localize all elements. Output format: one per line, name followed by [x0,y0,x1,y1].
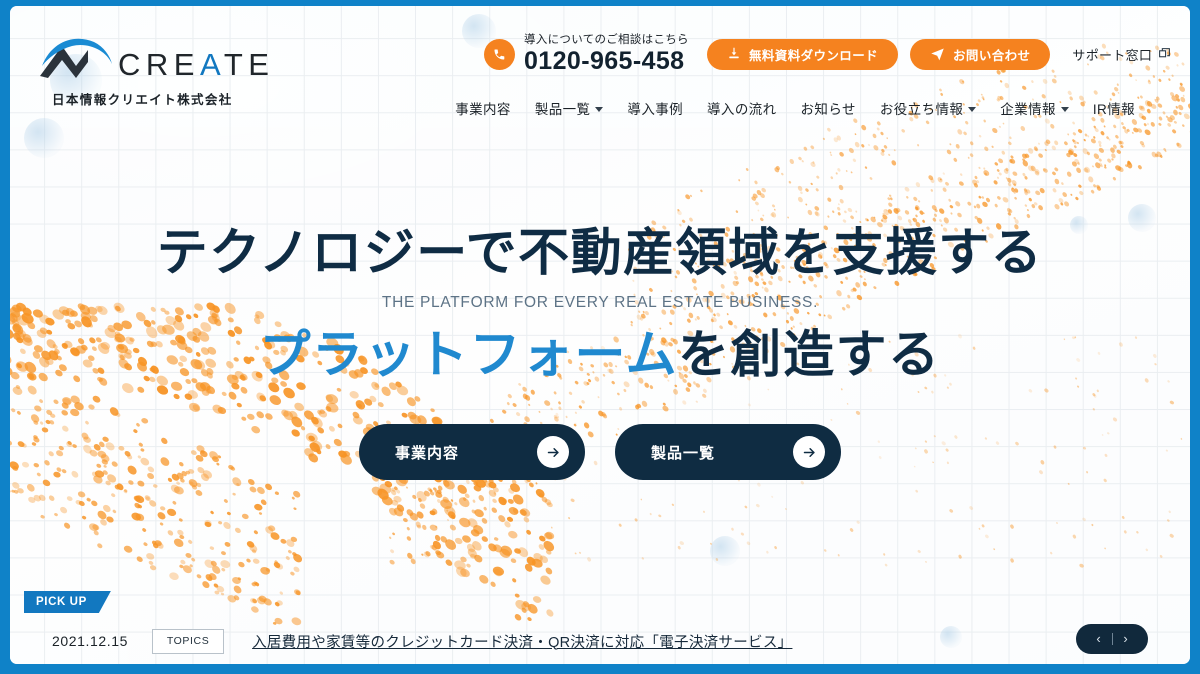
download-materials-button[interactable]: 無料資料ダウンロード [707,39,898,70]
contact-label: お問い合わせ [953,45,1030,64]
chevron-left-icon[interactable]: ‹ [1086,624,1112,654]
hero-cta-label: 事業内容 [395,442,459,463]
pickup-headline-link[interactable]: 入居費用や家賃等のクレジットカード決済・QR決済に対応「電子決済サービス」 [252,631,792,652]
download-icon [727,46,741,63]
nav-label: 事業内容 [455,98,511,118]
nav-item-process[interactable]: 導入の流れ [707,98,777,118]
hero-subtitle: THE PLATFORM FOR EVERY REAL ESTATE BUSIN… [10,294,1190,312]
hero-cta-business[interactable]: 事業内容 [359,424,585,480]
main-navigation: 事業内容 製品一覧 導入事例 導入の流れ お知らせ お役立ち情報 [455,98,1135,118]
telephone-block[interactable]: 導入についてのご相談はこちら 0120-965-458 [484,34,689,75]
pickup-date: 2021.12.15 [52,633,128,649]
nav-item-resources[interactable]: お役立ち情報 [880,98,976,118]
nav-label: 導入の流れ [707,98,777,118]
nav-item-products[interactable]: 製品一覧 [535,98,604,118]
nav-label: お役立ち情報 [880,98,963,118]
company-name: 日本情報クリエイト株式会社 [52,89,266,108]
hero-headline-rest: を創造する [678,326,941,383]
phone-icon [484,39,515,70]
logo[interactable]: CREATE 日本情報クリエイト株式会社 [36,32,266,108]
paper-plane-icon [930,46,945,64]
external-link-icon [1158,47,1171,63]
hero-headline-accent: プラットフォーム [260,326,678,383]
nav-item-news[interactable]: お知らせ [801,98,856,118]
nav-label: 企業情報 [1000,98,1056,118]
support-desk-label: サポート窓口 [1072,45,1152,64]
nav-item-company[interactable]: 企業情報 [1000,98,1069,118]
create-swoosh-logo-icon [36,36,114,82]
hero-headline-line2: プラットフォームを創造する [10,326,1190,384]
arrow-right-icon [793,436,825,468]
contact-button[interactable]: お問い合わせ [910,39,1050,70]
nav-label: 導入事例 [627,98,683,118]
hero-cta-products[interactable]: 製品一覧 [615,424,841,480]
pickup-ribbon: PICK UP [24,591,111,613]
nav-label: 製品一覧 [535,98,591,118]
pickup-category-badge: TOPICS [152,629,224,654]
chevron-down-icon [968,107,976,112]
chevron-down-icon [595,107,603,112]
pickup-carousel-nav: ‹ › [1076,624,1148,654]
nav-item-case-studies[interactable]: 導入事例 [627,98,683,118]
page-panel: PICK UP CREATE 日本情報クリエイト株式会社 [10,6,1190,664]
site-header: CREATE 日本情報クリエイト株式会社 導入についてのご相談はこちら 0120… [10,6,1190,128]
nav-item-ir[interactable]: IR情報 [1093,98,1135,118]
page-frame: PICK UP CREATE 日本情報クリエイト株式会社 [0,0,1200,674]
download-materials-label: 無料資料ダウンロード [749,45,878,64]
nav-label: IR情報 [1093,98,1135,118]
pickup-row: 2021.12.15 TOPICS 入居費用や家賃等のクレジットカード決済・QR… [10,621,1190,661]
hero-cta-row: 事業内容 製品一覧 [10,424,1190,480]
chevron-right-icon[interactable]: › [1113,624,1139,654]
nav-item-business[interactable]: 事業内容 [455,98,511,118]
support-desk-link[interactable]: サポート窓口 [1072,45,1171,64]
chevron-down-icon [1061,107,1069,112]
telephone-number[interactable]: 0120-965-458 [524,48,689,75]
hero-headline-line1: テクノロジーで不動産領域を支援する [10,224,1190,282]
telephone-label: 導入についてのご相談はこちら [524,34,689,47]
header-actions: 無料資料ダウンロード お問い合わせ サポート窓口 [707,39,1171,70]
hero-cta-label: 製品一覧 [651,442,715,463]
arrow-right-icon [537,436,569,468]
logo-wordmark: CREATE [118,48,274,82]
nav-label: お知らせ [801,98,856,118]
logo-text-accent: A [200,47,224,82]
logo-text-pre: CRE [118,47,200,82]
logo-text-post: TE [224,47,275,82]
